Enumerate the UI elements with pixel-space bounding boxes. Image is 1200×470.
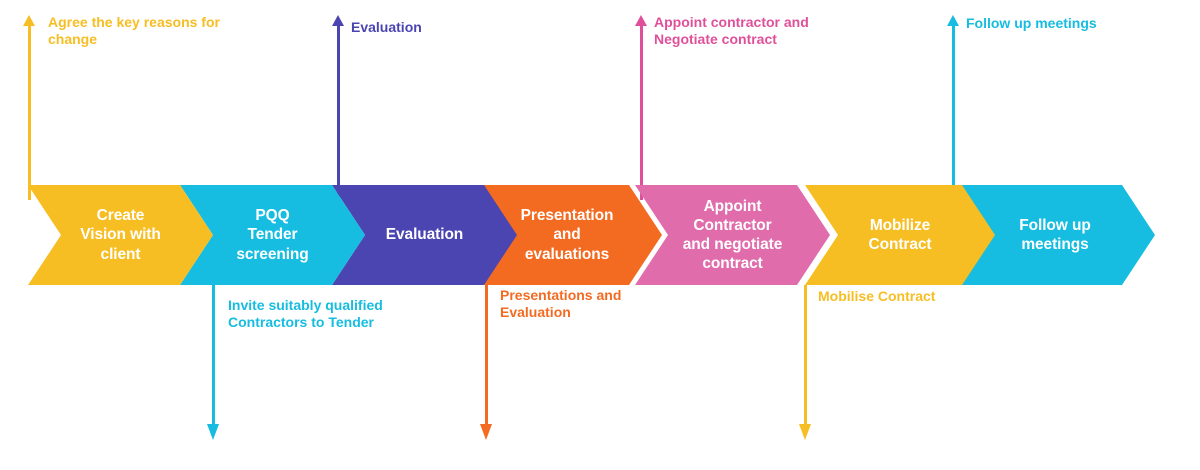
arrowhead-down-icon-mobilise	[799, 424, 811, 440]
callout-label-evaluation-note: Evaluation	[351, 19, 422, 36]
process-step-mobilize[interactable]: Mobilize Contract	[805, 185, 995, 285]
edge-mark-top	[1166, 48, 1200, 68]
process-step-label: PQQ Tender screening	[230, 206, 314, 264]
callout-label-appoint-note: Appoint contractor and Negotiate contrac…	[654, 14, 809, 48]
connector-line-evaluation-note	[337, 26, 340, 200]
process-step-label: Evaluation	[380, 225, 469, 244]
edge-mark-bottom	[1166, 125, 1200, 145]
arrowhead-up-icon-evaluation-note	[332, 15, 344, 26]
connector-line-invite-tender	[212, 285, 215, 424]
arrowhead-up-icon-follow-up-note	[947, 15, 959, 26]
process-diagram: Agree the key reasons for changeEvaluati…	[0, 0, 1200, 470]
callout-label-agree-reasons: Agree the key reasons for change	[48, 14, 220, 48]
process-band: Create Vision with clientPQQ Tender scre…	[0, 185, 1200, 285]
process-step-label: Follow up meetings	[1013, 216, 1096, 254]
process-step-label: Presentation and evaluations	[515, 206, 620, 264]
arrowhead-down-icon-invite-tender	[207, 424, 219, 440]
connector-line-presentations	[485, 285, 488, 424]
callout-label-mobilise: Mobilise Contract	[818, 288, 935, 305]
arrowhead-up-icon-appoint-note	[635, 15, 647, 26]
process-step-label: Create Vision with client	[74, 206, 166, 264]
connector-line-appoint-note	[640, 26, 643, 200]
process-step-label: Appoint Contractor and negotiate contrac…	[677, 197, 788, 274]
process-step-label: Mobilize Contract	[863, 216, 938, 254]
connector-line-follow-up-note	[952, 26, 955, 200]
arrowhead-down-icon-presentations	[480, 424, 492, 440]
callout-label-follow-up-note: Follow up meetings	[966, 15, 1097, 32]
callout-label-presentations: Presentations and Evaluation	[500, 287, 621, 321]
connector-line-mobilise	[804, 285, 807, 424]
arrowhead-up-icon-agree-reasons	[23, 15, 35, 26]
process-step-create-vision[interactable]: Create Vision with client	[28, 185, 213, 285]
connector-line-agree-reasons	[28, 26, 31, 200]
callout-label-invite-tender: Invite suitably qualified Contractors to…	[228, 297, 383, 331]
process-step-appoint[interactable]: Appoint Contractor and negotiate contrac…	[635, 185, 830, 285]
